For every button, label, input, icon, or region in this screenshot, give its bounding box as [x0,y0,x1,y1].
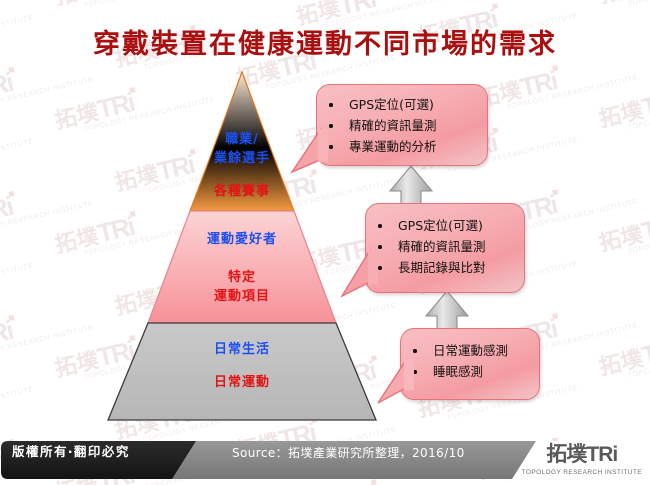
callout-middle-tail [340,248,380,303]
callout-bottom-tail [376,358,416,410]
slide-canvas: 拓墣TRiTOPOLOGY RESEARCH INSTITUTE拓墣TRiTOP… [0,0,650,485]
tri-logo: 拓墣TRi TOPOLOGY RESEARCH INSTITUTE [522,438,642,476]
list-item: 精確的資訊量測 [323,115,481,136]
callout-top: GPS定位(可選) 精確的資訊量測 專業運動的分析 [316,84,488,166]
callout-middle: GPS定位(可選) 精確的資訊量測 長期記錄與比對 [365,203,525,293]
pyramid-tier-bottom [108,323,376,420]
tier-middle-activity-label: 特定 運動項目 [172,268,312,306]
callout-top-list: GPS定位(可選) 精確的資訊量測 專業運動的分析 [323,94,481,157]
pyramid-tier-middle [148,211,336,323]
callout-bottom-list: 日常運動感測 睡眠感測 [407,340,533,382]
page-title: 穿戴裝置在健康運動不同市場的需求 [0,22,650,61]
tri-logo-tagline: TOPOLOGY RESEARCH INSTITUTE [522,469,642,476]
list-item: GPS定位(可選) [372,215,518,236]
list-item: GPS定位(可選) [323,94,481,115]
callout-bottom: 日常運動感測 睡眠感測 [400,328,540,400]
list-item: 精確的資訊量測 [372,236,518,257]
footer-copyright: 版權所有‧翻印必究 [12,441,130,460]
footer-source: Source：拓墣產業研究所整理，2016/10 [232,444,465,461]
list-item: 長期記錄與比對 [372,257,518,278]
tier-bottom-activity-label: 日常運動 [172,373,312,392]
callout-top-tail [290,128,330,178]
tier-top-activity-label: 各種賽事 [182,182,302,201]
callout-middle-list: GPS定位(可選) 精確的資訊量測 長期記錄與比對 [372,215,518,278]
list-item: 日常運動感測 [407,340,533,361]
pyramid-diagram [0,0,650,485]
list-item: 睡眠感測 [407,361,533,382]
tri-logo-wordmark: 拓墣TRi [522,438,642,468]
tier-top-market-label: 職業/ 業餘選手 [182,130,302,168]
footer-bar: 版權所有‧翻印必究 Source：拓墣產業研究所整理，2016/10 拓墣TRi… [0,433,650,485]
tier-middle-market-label: 運動愛好者 [172,230,312,249]
tier-bottom-market-label: 日常生活 [172,340,312,359]
list-item: 專業運動的分析 [323,136,481,157]
